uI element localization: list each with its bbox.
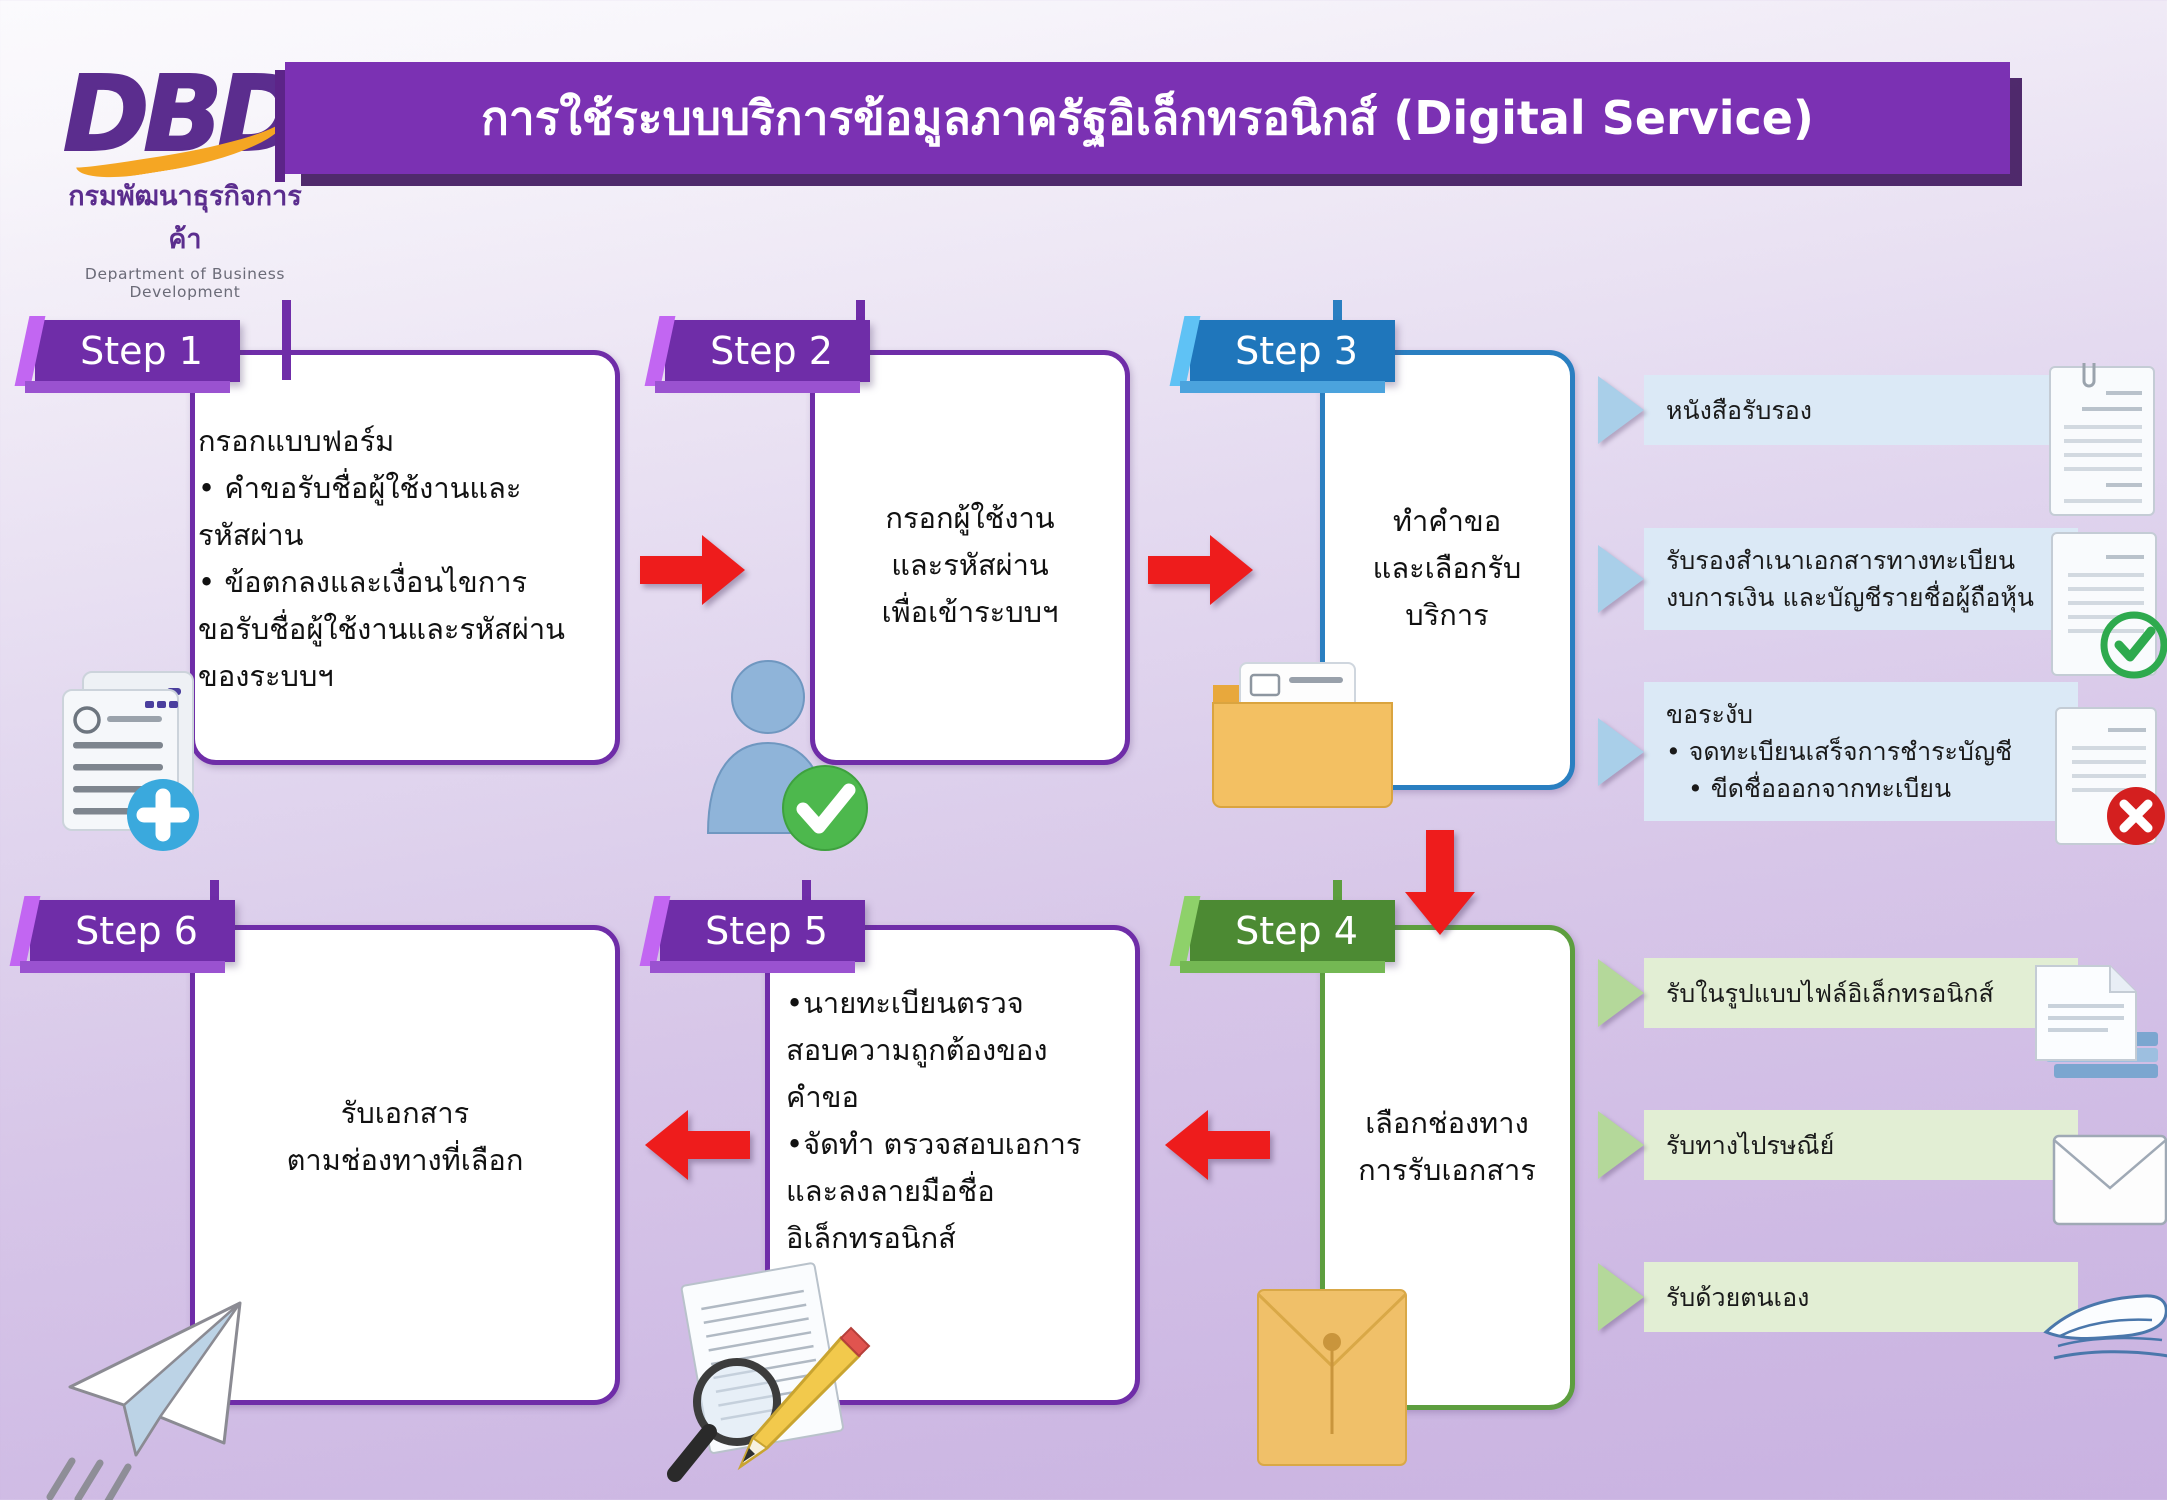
document-cancel-icon [2048, 700, 2167, 860]
step1-line-1: • คำขอรับชื่อผู้ใช้งานและ [198, 465, 598, 512]
step1-line-3: • ข้อตกลงและเงื่อนไขการ [198, 559, 598, 606]
step5-line-1: •นายทะเบียนตรวจ [786, 980, 1146, 1027]
step4-badge-label: Step 4 [1235, 909, 1358, 953]
step1-line-5: ของระบบฯ [198, 653, 598, 700]
logo-english-name: Department of Business Development [55, 265, 315, 301]
delivery-item-3[interactable]: รับด้วยตนเอง [1598, 1262, 2078, 1332]
step5-line-4: •จัดทำ ตรวจสอบเอการ [786, 1121, 1146, 1168]
step1-text: กรอกแบบฟอร์ม • คำขอรับชื่อผู้ใช้งานและ ร… [198, 418, 598, 700]
delivery-item-3-text: รับด้วยตนเอง [1644, 1262, 2078, 1332]
step5-line-5: และลงลายมือชื่อ [786, 1168, 1146, 1215]
step6-line-2: ตามช่องทางที่เลือก [195, 1137, 615, 1184]
arrow-marker-icon [1598, 1263, 1644, 1331]
arrow-step4-to-step5-icon [1165, 1110, 1270, 1180]
arrow-marker-icon [1598, 545, 1644, 613]
delivery-item-1-text: รับในรูปแบบไฟล์อิเล็กทรอนิกส์ [1644, 958, 2078, 1028]
arrow-marker-icon [1598, 718, 1644, 786]
documents-stack-icon [2030, 960, 2167, 1090]
user-verified-icon [690, 655, 880, 860]
step1-badge-label: Step 1 [80, 329, 203, 373]
step5-line-3: คำขอ [786, 1074, 1146, 1121]
step1-line-4: ขอรับชื่อผู้ใช้งานและรหัสผ่าน [198, 606, 598, 653]
step5-text: •นายทะเบียนตรวจ สอบความถูกต้องของ คำขอ •… [786, 980, 1146, 1262]
envelope-icon [1250, 1280, 1415, 1470]
step4-line-1: เลือกช่องทาง [1322, 1100, 1572, 1147]
service-item-3-bullet-1: • จดทะเบียนเสร็จการชำระบัญชี [1666, 733, 2056, 770]
step3-badge-label: Step 3 [1235, 329, 1358, 373]
step2-text: กรอกผู้ใช้งาน และรหัสผ่าน เพื่อเข้าระบบฯ [815, 495, 1125, 636]
step4-badge: Step 4 [1190, 900, 1395, 962]
delivery-item-1[interactable]: รับในรูปแบบไฟล์อิเล็กทรอนิกส์ [1598, 958, 2078, 1028]
service-item-3-bullet-2: • ขีดชื่อออกจากทะเบียน [1666, 770, 2056, 807]
step6-text: รับเอกสาร ตามช่องทางที่เลือก [195, 1090, 615, 1184]
document-review-icon [655, 1250, 885, 1500]
hand-receive-icon [2040, 1280, 2167, 1380]
step6-badge: Step 6 [30, 900, 235, 962]
step1-line-2: รหัสผ่าน [198, 512, 598, 559]
paper-plane-icon [28, 1265, 258, 1500]
step3-line-2: และเลือกรับ [1322, 545, 1572, 592]
arrow-marker-icon [1598, 1111, 1644, 1179]
step2-line-1: กรอกผู้ใช้งาน [815, 495, 1125, 542]
step1-badge: Step 1 [35, 320, 240, 382]
service-item-2[interactable]: รับรองสำเนาเอกสารทางทะเบียน งบการเงิน แล… [1598, 528, 2078, 630]
step3-text: ทำคำขอ และเลือกรับ บริการ [1322, 498, 1572, 639]
document-icon [2040, 355, 2167, 530]
step1-heading: กรอกแบบฟอร์ม [198, 418, 598, 465]
arrow-step2-to-step3-icon [1148, 535, 1253, 605]
service-item-3[interactable]: ขอระงับ • จดทะเบียนเสร็จการชำระบัญชี • ข… [1598, 682, 2078, 821]
step3-badge: Step 3 [1190, 320, 1395, 382]
step2-badge-label: Step 2 [710, 329, 833, 373]
service-item-1[interactable]: หนังสือรับรอง [1598, 375, 2078, 445]
step2-line-2: และรหัสผ่าน [815, 542, 1125, 589]
service-item-3-bullets: • จดทะเบียนเสร็จการชำระบัญชี • ขีดชื่อออ… [1666, 733, 2056, 807]
service-item-3-label: ขอระงับ [1666, 696, 2056, 733]
step1-stem [282, 300, 291, 380]
document-add-icon [35, 660, 235, 865]
arrow-step1-to-step2-icon [640, 535, 745, 605]
step6-line-1: รับเอกสาร [195, 1090, 615, 1137]
arrow-marker-icon [1598, 959, 1644, 1027]
mail-envelope-icon [2050, 1130, 2167, 1230]
logo-thai-name: กรมพัฒนาธุรกิจการค้า [55, 174, 315, 260]
page-title: การใช้ระบบบริการข้อมูลภาครัฐอิเล็กทรอนิก… [481, 82, 1814, 155]
title-banner: การใช้ระบบบริการข้อมูลภาครัฐอิเล็กทรอนิก… [285, 62, 2010, 174]
page-header: DBD กรมพัฒนาธุรกิจการค้า Department of B… [0, 0, 2167, 255]
folder-request-icon [1205, 655, 1400, 820]
service-item-1-text: หนังสือรับรอง [1644, 375, 2078, 445]
step6-badge-label: Step 6 [75, 909, 198, 953]
step4-line-2: การรับเอกสาร [1322, 1147, 1572, 1194]
service-item-3-box: ขอระงับ • จดทะเบียนเสร็จการชำระบัญชี • ข… [1644, 682, 2078, 821]
step2-badge: Step 2 [665, 320, 870, 382]
step5-line-2: สอบความถูกต้องของ [786, 1027, 1146, 1074]
document-check-icon [2042, 525, 2167, 685]
delivery-item-2[interactable]: รับทางไปรษณีย์ [1598, 1110, 2078, 1180]
step5-badge: Step 5 [660, 900, 865, 962]
delivery-item-2-text: รับทางไปรษณีย์ [1644, 1110, 2078, 1180]
step5-badge-label: Step 5 [705, 909, 828, 953]
arrow-step5-to-step6-icon [645, 1110, 750, 1180]
service-item-2-text: รับรองสำเนาเอกสารทางทะเบียน งบการเงิน แล… [1644, 528, 2078, 630]
logo-mark: DBD [55, 58, 305, 170]
step3-line-1: ทำคำขอ [1322, 498, 1572, 545]
arrow-marker-icon [1598, 376, 1644, 444]
arrow-step3-to-step4-icon [1405, 830, 1475, 935]
step2-line-3: เพื่อเข้าระบบฯ [815, 589, 1125, 636]
step3-line-3: บริการ [1322, 592, 1572, 639]
step4-text: เลือกช่องทาง การรับเอกสาร [1322, 1100, 1572, 1194]
